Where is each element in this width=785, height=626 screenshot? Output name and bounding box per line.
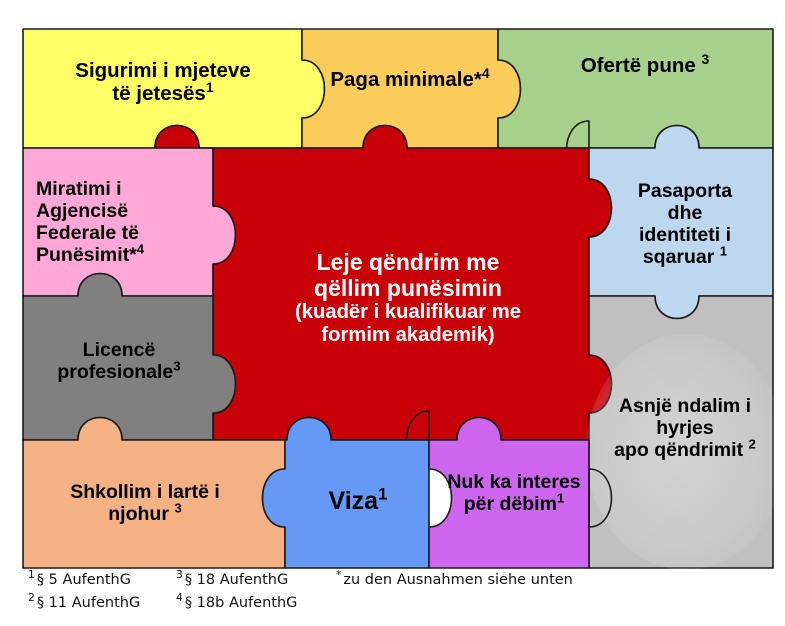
piece-miratimi[interactable] — [23, 126, 236, 297]
piece-leje-qendrim[interactable] — [155, 126, 612, 470]
legend-cell: 1§ 5 AufenthG — [28, 572, 176, 588]
legend-cell: *zu den Ausnahmen siehe unten — [336, 572, 656, 588]
legend-cell: 4§ 18b AufenthG — [176, 595, 336, 611]
legend-cell: 2§ 11 AufenthG — [28, 595, 176, 611]
piece-viza[interactable] — [263, 418, 430, 569]
grey-piece-highlight — [586, 334, 785, 570]
piece-pasaporta[interactable] — [589, 126, 773, 319]
piece-licence-profesionale[interactable] — [23, 274, 236, 441]
legend-cell — [336, 595, 656, 611]
legend-row: 1§ 5 AufenthG 3§ 18 AufenthG *zu den Aus… — [28, 572, 768, 595]
puzzle-diagram: Sigurimi i mjeteve të jetesës1 Paga mini… — [0, 0, 785, 626]
footnote-legend: 1§ 5 AufenthG 3§ 18 AufenthG *zu den Aus… — [28, 572, 768, 622]
legend-row: 2§ 11 AufenthG 4§ 18b AufenthG — [28, 595, 768, 618]
puzzle-shapes-layer — [0, 0, 785, 626]
piece-paga-minimale[interactable] — [302, 29, 521, 148]
legend-cell: 3§ 18 AufenthG — [176, 572, 336, 588]
piece-nuk-ka-interes[interactable] — [429, 418, 589, 569]
